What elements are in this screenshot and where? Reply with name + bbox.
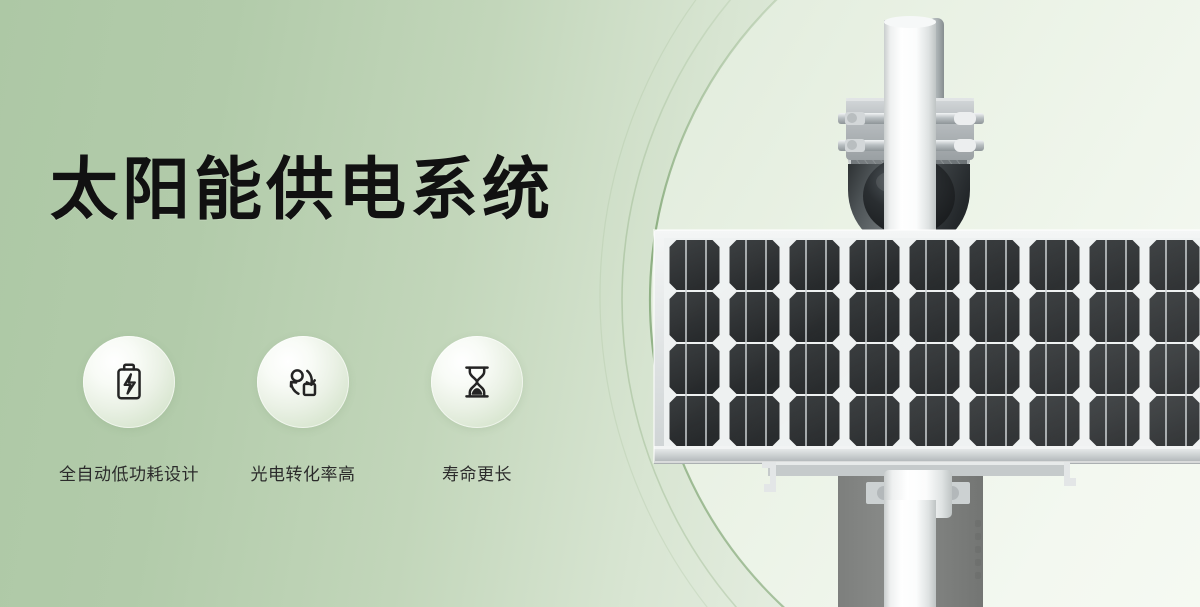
text-column: 太阳能供电系统 全自动低功耗设计 — [50, 0, 590, 607]
battery-bolt-icon — [106, 359, 152, 405]
feature-list: 全自动低功耗设计 光电转化率 — [42, 336, 564, 485]
feature-item-conversion: 光电转化率高 — [216, 336, 390, 485]
solar-power-banner: 太阳能供电系统 全自动低功耗设计 — [0, 0, 1200, 607]
feature-icon-circle — [257, 336, 349, 428]
hourglass-icon — [454, 359, 500, 405]
feature-label: 全自动低功耗设计 — [59, 460, 199, 485]
conversion-cycle-icon — [280, 359, 326, 405]
feature-item-lifespan: 寿命更长 — [390, 336, 564, 485]
feature-label: 寿命更长 — [442, 460, 512, 485]
page-title: 太阳能供电系统 — [50, 155, 554, 226]
solar-panel — [654, 230, 1200, 464]
feature-item-low-power: 全自动低功耗设计 — [42, 336, 216, 485]
solar-cell-grid — [664, 238, 1200, 446]
pole-lower — [884, 500, 936, 607]
feature-icon-circle — [431, 336, 523, 428]
feature-label: 光电转化率高 — [251, 460, 356, 485]
feature-icon-circle — [83, 336, 175, 428]
